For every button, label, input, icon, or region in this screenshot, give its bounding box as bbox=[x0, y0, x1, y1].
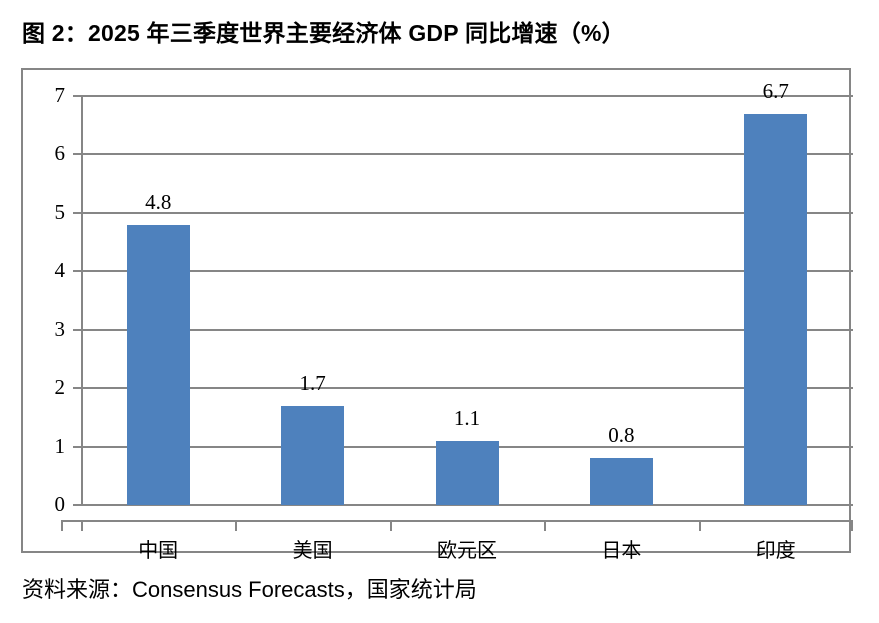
x-axis-category-label: 印度 bbox=[716, 540, 836, 562]
y-axis-labels-group: 01234567 bbox=[31, 70, 65, 551]
bar-value-label: 6.7 bbox=[736, 81, 816, 102]
x-axis-tick bbox=[390, 520, 392, 531]
bar-value-label: 1.7 bbox=[273, 373, 353, 394]
plot-area: 01234567 4.81.71.10.86.7 中国美国欧元区日本印度 bbox=[23, 70, 849, 551]
bar bbox=[590, 458, 653, 505]
x-axis-category-label: 日本 bbox=[561, 540, 681, 562]
y-axis-tick-label: 3 bbox=[39, 319, 65, 340]
y-axis-tick bbox=[73, 270, 82, 272]
bar bbox=[281, 406, 344, 505]
x-axis-tick bbox=[235, 520, 237, 531]
y-axis-tick bbox=[73, 95, 82, 97]
x-axis-tick bbox=[81, 520, 83, 531]
y-axis-tick bbox=[73, 212, 82, 214]
x-axis-category-label: 美国 bbox=[253, 540, 373, 562]
y-axis-tick bbox=[73, 387, 82, 389]
y-axis-tick-label: 5 bbox=[39, 202, 65, 223]
gridline bbox=[81, 387, 853, 389]
bar-value-label: 4.8 bbox=[118, 192, 198, 213]
bar bbox=[436, 441, 499, 505]
y-axis-tick-label: 6 bbox=[39, 143, 65, 164]
x-axis-tick bbox=[544, 520, 546, 531]
gridline bbox=[81, 270, 853, 272]
y-axis-tick-label: 0 bbox=[39, 494, 65, 515]
x-axis-category-label: 中国 bbox=[98, 540, 218, 562]
y-axis-tick-label: 7 bbox=[39, 85, 65, 106]
chart-container: 01234567 4.81.71.10.86.7 中国美国欧元区日本印度 bbox=[21, 68, 851, 553]
y-axis-line bbox=[81, 96, 83, 505]
y-axis-tick-label: 2 bbox=[39, 377, 65, 398]
bar bbox=[744, 114, 807, 505]
gridline bbox=[81, 153, 853, 155]
y-axis-tick-label: 1 bbox=[39, 436, 65, 457]
x-axis-tick bbox=[61, 520, 63, 531]
bar-value-label: 1.1 bbox=[427, 408, 507, 429]
y-axis-tick bbox=[73, 446, 82, 448]
bar-value-label: 0.8 bbox=[581, 425, 661, 446]
x-axis-category-label: 欧元区 bbox=[407, 540, 527, 562]
page-title: 图 2：2025 年三季度世界主要经济体 GDP 同比增速（%） bbox=[22, 14, 862, 48]
y-axis-tick bbox=[73, 504, 82, 506]
y-axis-tick bbox=[73, 153, 82, 155]
y-axis-tick-label: 4 bbox=[39, 260, 65, 281]
bar bbox=[127, 225, 190, 505]
y-axis-tick bbox=[73, 329, 82, 331]
x-axis-line bbox=[61, 520, 853, 522]
source-note: 资料来源：Consensus Forecasts，国家统计局 bbox=[22, 576, 477, 604]
gridline bbox=[81, 329, 853, 331]
x-axis-tick bbox=[699, 520, 701, 531]
x-axis-tick bbox=[851, 520, 853, 531]
